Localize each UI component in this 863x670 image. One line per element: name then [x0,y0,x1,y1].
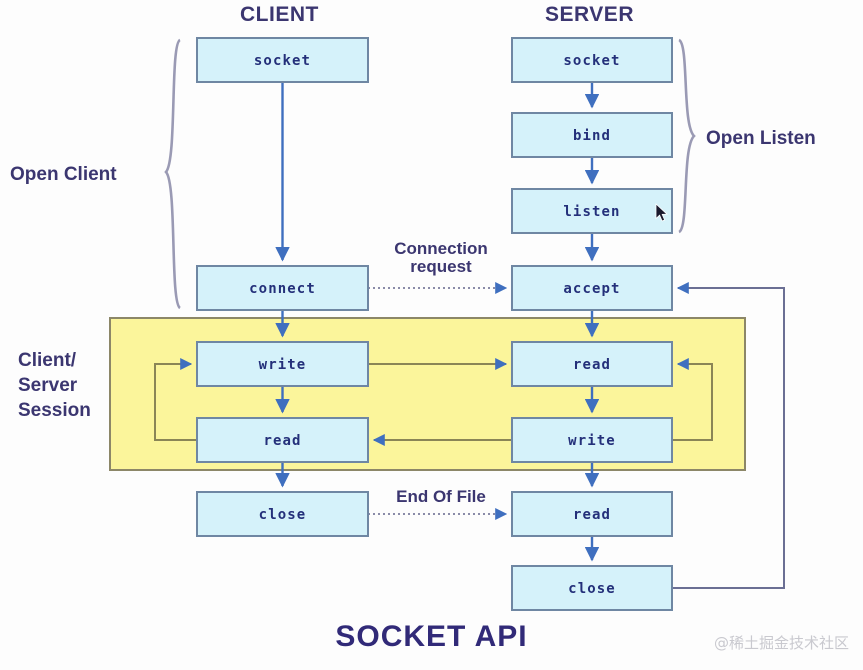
connection-request-label: Connection request [376,240,506,276]
node-server-listen[interactable] [512,189,672,233]
client-column-header: CLIENT [240,3,319,27]
server-column-header: SERVER [545,3,634,27]
brace-open-listen [679,40,694,232]
node-server-socket[interactable] [512,38,672,82]
connection-request-line2: request [376,258,506,276]
brace-open-client [166,40,180,308]
watermark: @稀土掘金技术社区 [714,632,849,653]
node-client-read[interactable] [197,418,368,462]
node-server-read2[interactable] [512,492,672,536]
session-label-line1: Client/ [18,348,91,373]
diagram-canvas [0,0,863,670]
session-label: Client/ Server Session [18,348,91,423]
socket-api-diagram: CLIENT SERVER Open Client Open Listen Cl… [0,0,863,670]
node-server-read1[interactable] [512,342,672,386]
node-client-socket[interactable] [197,38,368,82]
node-client-close[interactable] [197,492,368,536]
open-client-label: Open Client [10,162,117,187]
node-client-connect[interactable] [197,266,368,310]
node-server-write[interactable] [512,418,672,462]
connection-request-line1: Connection [376,240,506,258]
session-label-line2: Server [18,373,91,398]
node-server-bind[interactable] [512,113,672,157]
open-listen-label: Open Listen [706,126,816,151]
end-of-file-label: End Of File [376,488,506,506]
node-server-close[interactable] [512,566,672,610]
session-label-line3: Session [18,398,91,423]
node-server-accept[interactable] [512,266,672,310]
node-client-write[interactable] [197,342,368,386]
